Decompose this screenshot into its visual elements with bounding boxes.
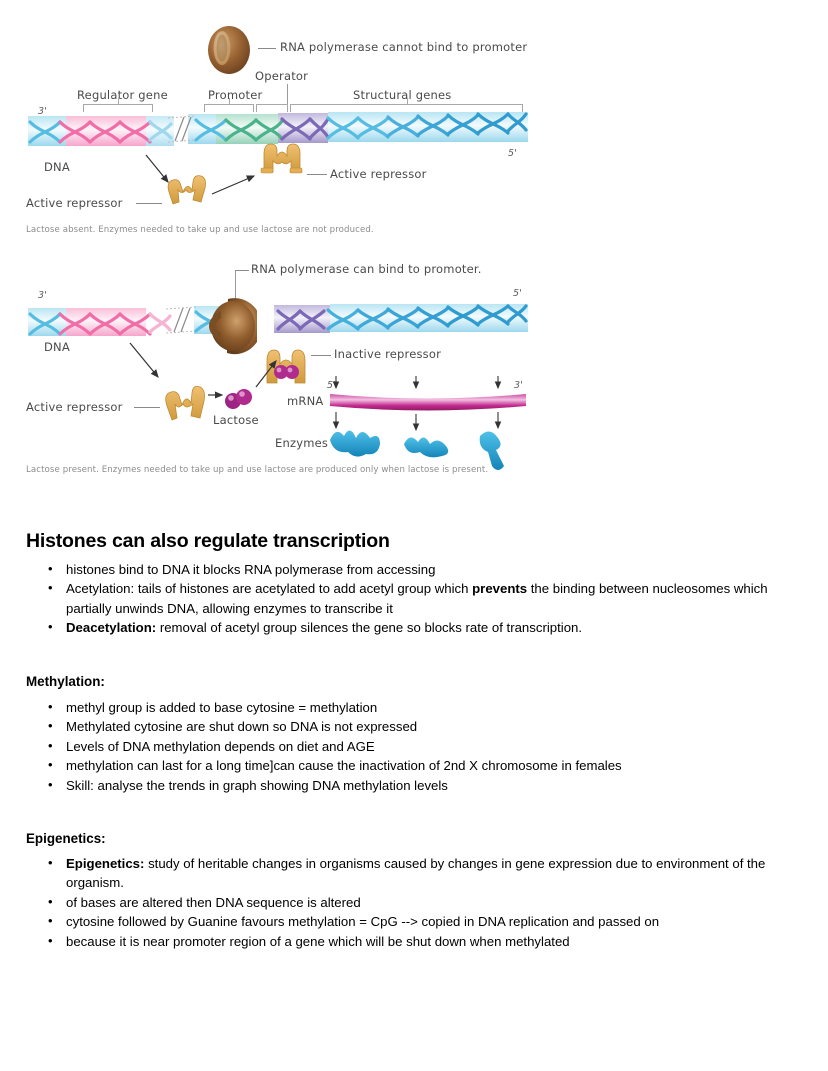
list-item: because it is near promoter region of a … [40, 932, 780, 951]
dna-3prime-label-bottom: 3' [38, 290, 47, 301]
list-item: Acetylation: tails of histones are acety… [40, 579, 780, 618]
operator-label: Operator [255, 69, 308, 83]
inactive-repressor-leader [311, 355, 331, 356]
list-item: Skill: analyse the trends in graph showi… [40, 776, 780, 795]
list-item: of bases are altered then DNA sequence i… [40, 893, 780, 912]
list-item: histones bind to DNA it blocks RNA polym… [40, 560, 780, 579]
list-item: Methylated cytosine are shut down so DNA… [40, 717, 780, 736]
polymerase-leader-line [258, 48, 276, 49]
section-heading-methylation: Methylation: [26, 674, 105, 689]
bullet-list-epigenetics: Epigenetics: study of heritable changes … [40, 854, 780, 951]
bullet-text: Epigenetics: study of heritable changes … [66, 856, 765, 890]
bullet-text: Methylated cytosine are shut down so DNA… [66, 719, 417, 734]
diagram-lactose-present: RNA polymerase can bind to promoter. [0, 250, 828, 490]
polymerase-label-2: RNA polymerase can bind to promoter. [251, 262, 482, 276]
structural-genes-label: Structural genes [353, 88, 452, 102]
notes-page: RNA polymerase cannot bind to promoter R… [0, 0, 828, 1071]
active-repressor-right-label: Active repressor [330, 167, 427, 181]
bullet-text: methylation can last for a long time]can… [66, 758, 622, 773]
bullet-text: Acetylation: tails of histones are acety… [66, 581, 768, 615]
enzymes-label: Enzymes [275, 436, 328, 450]
repressor-arrows-top [130, 150, 330, 210]
active-repressor-label-2: Active repressor [26, 400, 123, 414]
bullet-text: cytosine followed by Guanine favours met… [66, 914, 659, 929]
polymerase-label: RNA polymerase cannot bind to promoter [280, 40, 527, 54]
page-title: Histones can also regulate transcription [26, 530, 390, 553]
list-item: methylation can last for a long time]can… [40, 756, 780, 775]
dna-3prime-label-top: 3' [38, 106, 47, 117]
caption-lactose-present: Lactose present. Enzymes needed to take … [26, 465, 488, 475]
caption-lactose-absent: Lactose absent. Enzymes needed to take u… [26, 225, 374, 235]
bullet-text: Skill: analyse the trends in graph showi… [66, 778, 448, 793]
dna-label-top: DNA [44, 160, 70, 174]
dna-label-bottom: DNA [44, 340, 70, 354]
inactive-repressor-label: Inactive repressor [334, 347, 441, 361]
bullet-list-histones: histones bind to DNA it blocks RNA polym… [40, 560, 780, 638]
bullet-text: Deacetylation: removal of acetyl group s… [66, 620, 582, 635]
bullet-text: histones bind to DNA it blocks RNA polym… [66, 562, 435, 577]
bullet-text: because it is near promoter region of a … [66, 934, 570, 949]
promoter-label: Promoter [208, 88, 262, 102]
pathway-arrows-bottom [110, 335, 310, 425]
list-item: Epigenetics: study of heritable changes … [40, 854, 780, 893]
list-item: Levels of DNA methylation depends on die… [40, 737, 780, 756]
dna-5prime-label-top: 5' [508, 148, 517, 159]
rna-polymerase-icon [205, 24, 253, 76]
bullet-text: methyl group is added to base cytosine =… [66, 700, 377, 715]
dna-5prime-label-bottom: 5' [513, 288, 522, 299]
active-repressor-left-label: Active repressor [26, 196, 123, 210]
diagram-lactose-absent: RNA polymerase cannot bind to promoter R… [0, 0, 828, 250]
bullet-list-methylation: methyl group is added to base cytosine =… [40, 698, 780, 795]
section-heading-epigenetics: Epigenetics: [26, 831, 106, 846]
bullet-text: Levels of DNA methylation depends on die… [66, 739, 375, 754]
bullet-text: of bases are altered then DNA sequence i… [66, 895, 361, 910]
mrna-label: mRNA [287, 394, 323, 408]
list-item: Deacetylation: removal of acetyl group s… [40, 618, 780, 637]
list-item: cytosine followed by Guanine favours met… [40, 912, 780, 931]
list-item: methyl group is added to base cytosine =… [40, 698, 780, 717]
regulator-gene-label: Regulator gene [77, 88, 168, 102]
polymerase-leader-line-2 [235, 270, 249, 271]
